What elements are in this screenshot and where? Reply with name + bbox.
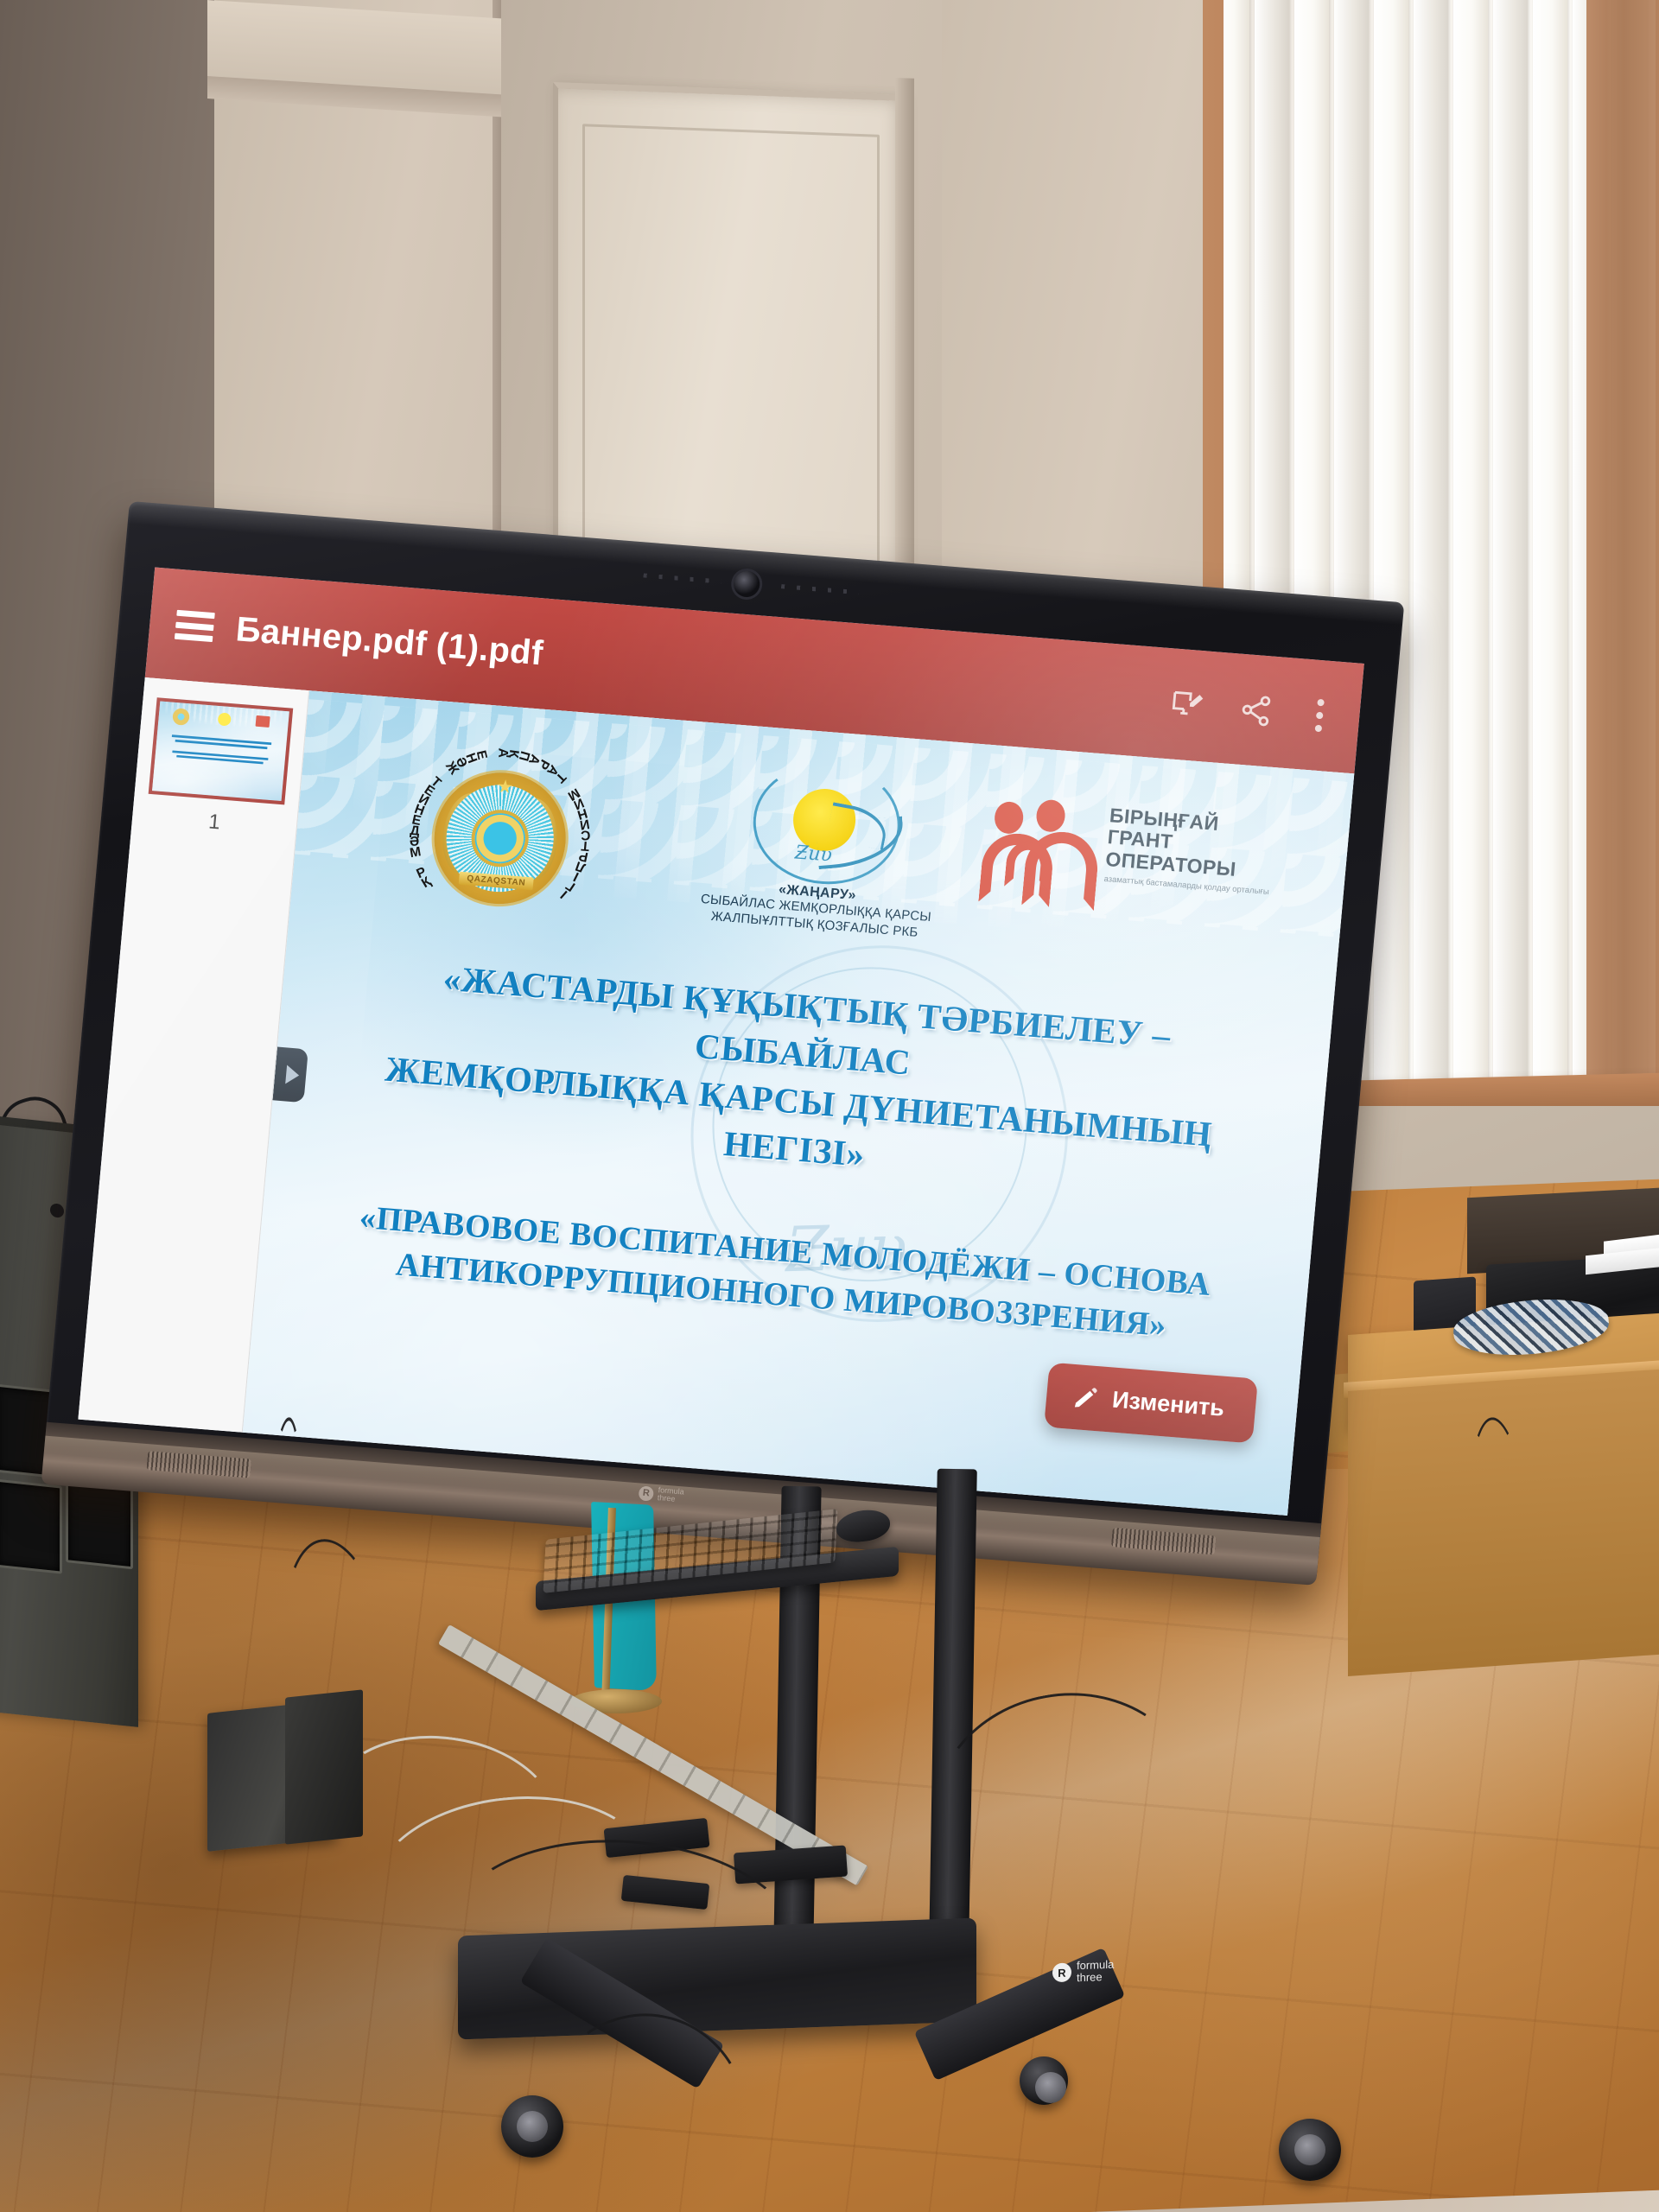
annotate-icon[interactable]: [1166, 684, 1208, 725]
panel-brand-text: formula three: [657, 1486, 684, 1504]
cart-brand-mark: R: [1052, 1963, 1071, 1983]
viewer-body: 1 Ƶиυ: [78, 677, 1354, 1516]
thumbnail-page-1[interactable]: [149, 697, 294, 804]
zhanaru-logo: Ƶиυ «ЖАҢАРУ» СЫБАЙЛАС ЖЕМҚОРЛЫҚҚА ҚАРСЫ …: [684, 753, 958, 944]
overflow-icon[interactable]: [1304, 695, 1335, 736]
interactive-display: Баннер.pdf (1).pdf: [37, 501, 1430, 1629]
display-screen: Баннер.pdf (1).pdf: [78, 568, 1363, 1516]
display-bezel: Баннер.pdf (1).pdf: [41, 501, 1405, 1584]
panel-brand-mark: R: [639, 1485, 654, 1501]
edit-button[interactable]: Изменить: [1044, 1363, 1258, 1444]
panel-brand-logo: R formula three: [638, 1484, 684, 1504]
document-title: Баннер.pdf (1).pdf: [234, 610, 544, 673]
slide-artwork: Ƶиυ ҚР МӘДЕНИЕТ ЖӘНЕ АҚПАРАТ МИНИСТРЛІГІ: [243, 690, 1355, 1516]
two-people-icon: [982, 795, 1097, 899]
slide-titles: «ЖАСТАРДЫ ҚҰҚЫҚТЫҚ ТӘРБИЕЛЕУ – СЫБАЙЛАС …: [257, 942, 1332, 1358]
thumbnail-preview: [152, 702, 289, 801]
caster-right: [1279, 2119, 1341, 2181]
cart-brand-text: formula three: [1077, 1959, 1114, 1985]
mic-array-left: [643, 573, 721, 583]
hamburger-menu-icon[interactable]: [175, 610, 215, 642]
grant-operators-logo: БІРЫҢҒАЙ ГРАНТ ОПЕРАТОРЫ азаматтық баста…: [982, 795, 1276, 914]
signature-icon: Ƶиυ: [794, 842, 833, 866]
room-scene: Баннер.pdf (1).pdf: [0, 0, 1659, 2212]
pdf-page-view[interactable]: Ƶиυ ҚР МӘДЕНИЕТ ЖӘНЕ АҚПАРАТ МИНИСТРЛІГІ: [243, 690, 1355, 1516]
title-russian: «ПРАВОВОЕ ВОСПИТАНИЕ МОЛОДЁЖИ – ОСНОВА А…: [314, 1192, 1253, 1354]
window-side-column: [1586, 0, 1659, 1132]
thumbnail-page-number: 1: [207, 810, 221, 835]
edit-button-label: Изменить: [1111, 1387, 1225, 1422]
webcam-icon: [733, 570, 761, 598]
grant-operators-text: БІРЫҢҒАЙ ГРАНТ ОПЕРАТОРЫ азаматтық баста…: [1103, 804, 1275, 898]
sidebar-expand-toggle[interactable]: [272, 1046, 308, 1103]
emblem-star-icon: ★: [496, 776, 514, 798]
cart-brand-logo: R formula three: [1052, 1959, 1114, 1986]
caster-rear: [1020, 2056, 1068, 2105]
share-icon[interactable]: [1236, 690, 1277, 731]
mic-array-right: [781, 584, 859, 594]
triangle-right-icon: [285, 1065, 300, 1084]
zhanaru-mark: Ƶиυ: [742, 757, 905, 889]
kz-ministry-emblem: ҚР МӘДЕНИЕТ ЖӘНЕ АҚПАРАТ МИНИСТРЛІГІ ★ Q…: [399, 739, 601, 938]
pencil-icon: [1071, 1383, 1100, 1411]
app-header-actions: [1166, 683, 1336, 736]
